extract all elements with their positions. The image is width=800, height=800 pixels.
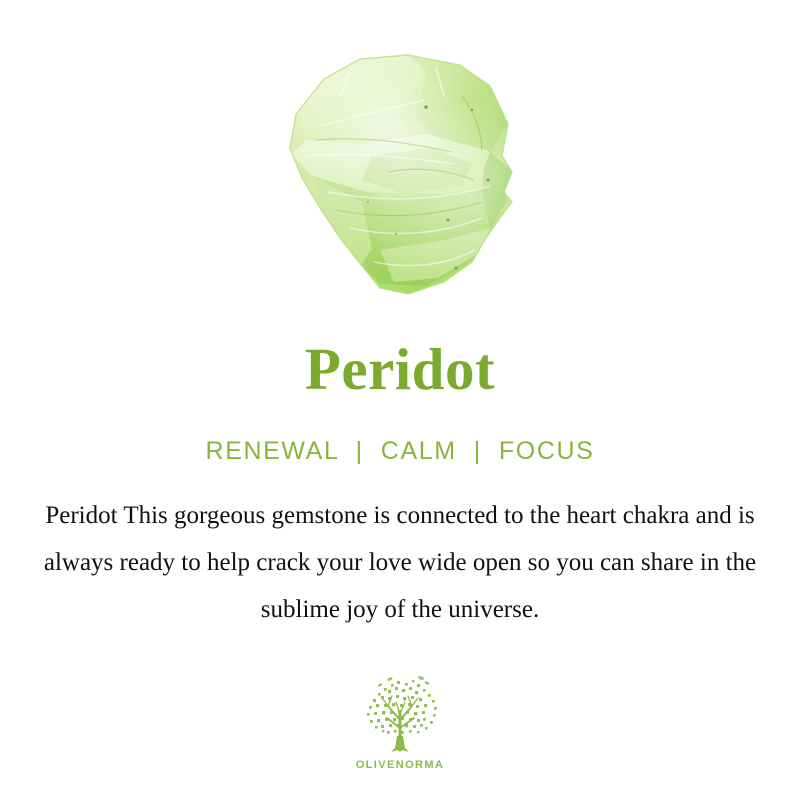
- product-description: Peridot This gorgeous gemstone is connec…: [20, 492, 780, 633]
- tagline-keywords: RENEWAL | CALM | FOCUS: [206, 437, 595, 466]
- peridot-stone-graphic: [276, 52, 544, 304]
- tree-trunk: [391, 736, 409, 752]
- gemstone-image-area: [0, 0, 800, 318]
- floating-leaves: [377, 676, 429, 687]
- product-card: Peridot RENEWAL | CALM | FOCUS Peridot T…: [0, 0, 800, 800]
- tree-canopy: [367, 676, 437, 734]
- tree-of-life-icon: [354, 676, 446, 756]
- brand-wordmark: OLIVENORMA: [356, 759, 445, 771]
- tree-branches: [382, 696, 418, 742]
- peridot-stone-image: [276, 52, 544, 304]
- page-title: Peridot: [305, 340, 495, 399]
- brand-logo: OLIVENORMA: [335, 676, 465, 771]
